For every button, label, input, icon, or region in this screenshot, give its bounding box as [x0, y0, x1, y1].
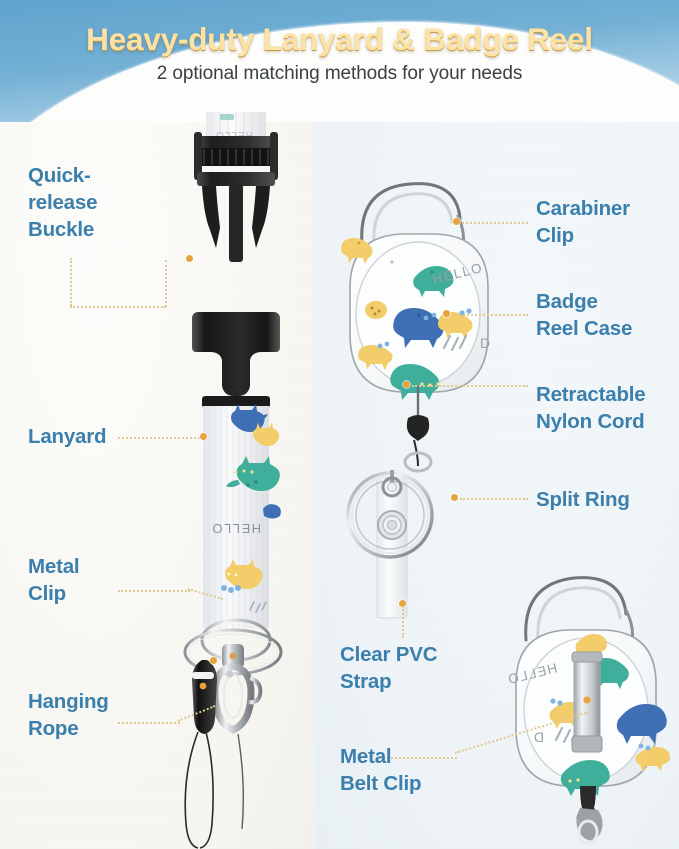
label-clear-pvc-strap: Clear PVC Strap — [340, 641, 437, 695]
quick-release-buckle-art: HELLO — [176, 112, 296, 312]
badge-reel-back-art: HELLO — [500, 560, 676, 849]
label-retractable-nylon-cord: Retractable Nylon Cord — [536, 381, 645, 435]
leader-dot-case — [443, 310, 450, 317]
leader-dot-split-ring — [451, 494, 458, 501]
lanyard-strap-art: HELLO — [176, 310, 296, 670]
page-subtitle: 2 optional matching methods for your nee… — [0, 63, 679, 85]
leader-metal-clip-h — [118, 590, 190, 592]
leader-dot-metal-clip — [210, 657, 217, 664]
metal-clip-and-rope-art — [158, 628, 308, 849]
label-quick-release-buckle: Quick- release Buckle — [28, 162, 97, 243]
belt-clip-marker-dot — [583, 696, 590, 703]
leader-cord-h — [412, 385, 528, 387]
label-badge-reel-case: Badge Reel Case — [536, 288, 632, 342]
label-metal-clip: Metal Clip — [28, 553, 79, 607]
label-metal-belt-clip: Metal Belt Clip — [340, 743, 421, 797]
label-split-ring: Split Ring — [536, 486, 630, 513]
badge-reel-front-art: HELLO — [330, 172, 506, 472]
leader-case-h — [452, 314, 528, 316]
leader-quick-release-h — [70, 306, 166, 308]
leader-split-ring-h — [460, 498, 528, 500]
label-lanyard: Lanyard — [28, 423, 106, 450]
svg-text:HELLO: HELLO — [211, 521, 261, 536]
svg-text:D: D — [534, 729, 544, 745]
leader-carabiner-h — [462, 222, 528, 224]
leader-pvc-v — [402, 606, 404, 638]
svg-text:D: D — [480, 335, 490, 351]
leader-dot-quick-release — [186, 255, 193, 262]
leader-quick-release-v1 — [70, 258, 72, 306]
leader-dot-carabiner — [453, 218, 460, 225]
leader-quick-release-v2 — [165, 260, 167, 307]
leader-hanging-rope-h — [118, 722, 180, 724]
panel-divider — [312, 104, 314, 849]
leader-lanyard-h — [118, 437, 200, 439]
page-title: Heavy-duty Lanyard & Badge Reel — [0, 21, 679, 58]
label-hanging-rope: Hanging Rope — [28, 688, 109, 742]
leader-dot-cord — [403, 381, 410, 388]
leader-dot-lanyard — [200, 433, 207, 440]
infographic-page: Heavy-duty Lanyard & Badge Reel 2 option… — [0, 0, 679, 849]
header-banner: Heavy-duty Lanyard & Badge Reel 2 option… — [0, 0, 679, 122]
label-carabiner-clip: Carabiner Clip — [536, 195, 630, 249]
